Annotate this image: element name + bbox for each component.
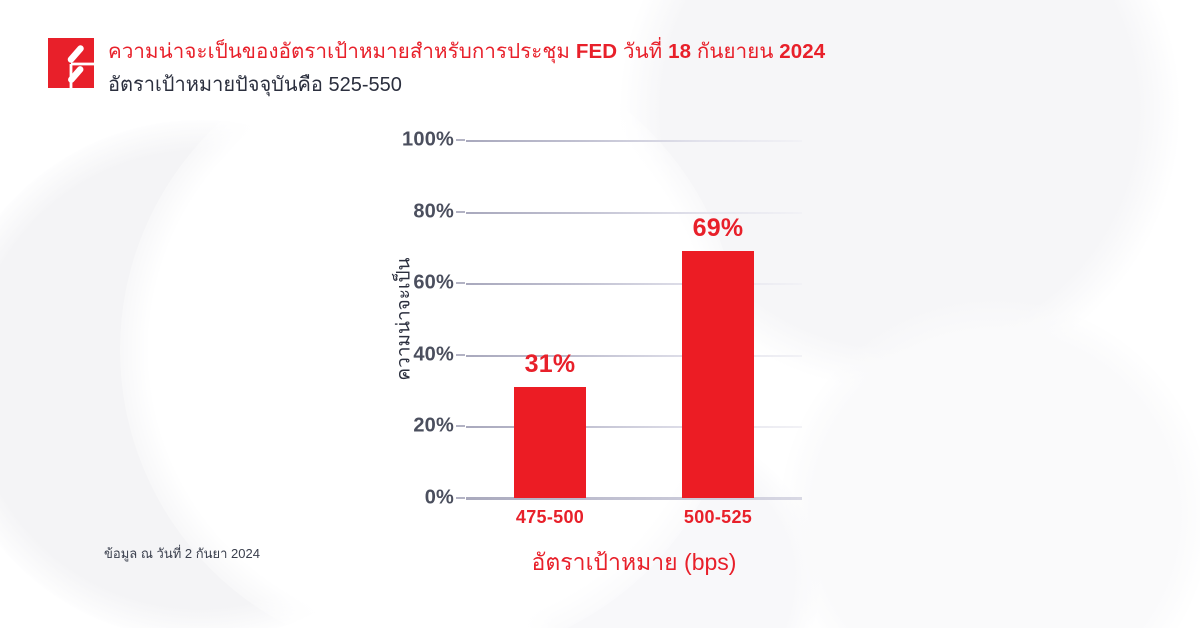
y-axis-title: ความน่าจะเป็น (389, 257, 419, 380)
bar[interactable] (514, 387, 586, 498)
page-subtitle: อัตราเป้าหมายปัจจุบันคือ 525-550 (108, 73, 825, 99)
x-axis-category-label: 500-525 (684, 507, 752, 528)
bar[interactable] (682, 251, 754, 498)
y-axis-tick-mark (456, 425, 465, 427)
bar-group[interactable]: 69%500-525 (682, 251, 754, 498)
bar-group[interactable]: 31%475-500 (514, 387, 586, 498)
y-axis-tick-label: 20% (413, 415, 454, 438)
source-footnote: ข้อมูล ณ วันที่ 2 กันยา 2024 (104, 543, 260, 564)
bar-value-label: 69% (693, 214, 744, 243)
header-text: ความน่าจะเป็นของอัตราเป้าหมายสำหรับการปร… (108, 38, 825, 99)
header: ความน่าจะเป็นของอัตราเป้าหมายสำหรับการปร… (48, 38, 825, 99)
title-segment-3: กันยายน (691, 40, 779, 63)
title-segment-2: วันที่ (617, 40, 668, 63)
y-axis-tick-label: 40% (413, 343, 454, 366)
infographic-canvas: ความน่าจะเป็นของอัตราเป้าหมายสำหรับการปร… (0, 0, 1200, 628)
title-segment-1: ความน่าจะเป็นของอัตราเป้าหมายสำหรับการปร… (108, 40, 576, 63)
bar-chart-plot-area: 0%20%40%60%80%100% 31%475-50069%500-525 … (466, 140, 802, 498)
gridline (466, 212, 802, 214)
title-bold-fed: FED (576, 40, 617, 63)
title-bold-day: 18 (668, 40, 691, 63)
y-axis-tick-mark (456, 354, 465, 356)
y-axis-tick-label: 60% (413, 272, 454, 295)
title-bold-year: 2024 (779, 40, 825, 63)
y-axis-tick-mark (456, 497, 465, 499)
gridline (466, 140, 802, 142)
background-blob-d (780, 300, 1200, 628)
bar-value-label: 31% (525, 350, 576, 379)
x-axis-title: อัตราเป้าหมาย (bps) (532, 545, 737, 581)
y-axis-tick-label: 100% (402, 129, 454, 152)
pencil-square-logo-icon (48, 38, 94, 88)
y-axis-tick-mark (456, 282, 465, 284)
y-axis-tick-mark (456, 211, 465, 213)
y-axis-tick-mark (456, 139, 465, 141)
y-axis-tick-label: 80% (413, 200, 454, 223)
y-axis-tick-label: 0% (425, 487, 454, 510)
page-title: ความน่าจะเป็นของอัตราเป้าหมายสำหรับการปร… (108, 39, 825, 65)
x-axis-category-label: 475-500 (516, 507, 584, 528)
